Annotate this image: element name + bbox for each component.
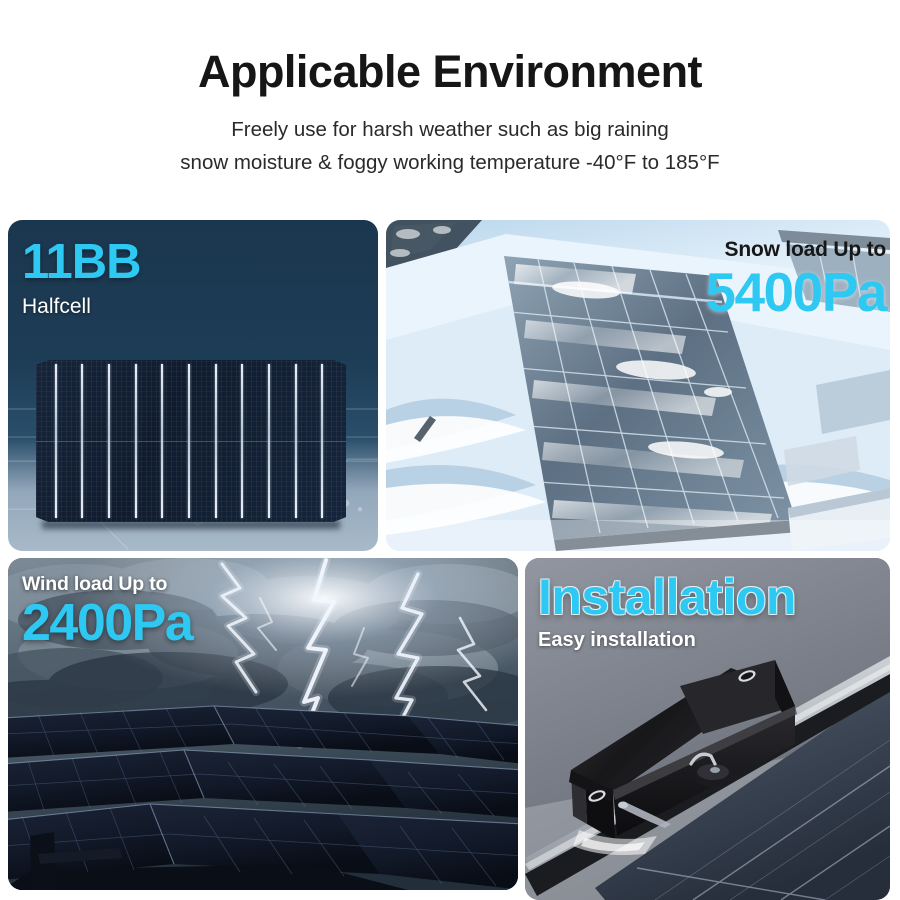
busbar <box>241 364 243 518</box>
installation-headline: Installation <box>538 572 796 622</box>
page-subtitle: Freely use for harsh weather such as big… <box>70 95 830 179</box>
busbar <box>161 364 163 518</box>
header: Applicable Environment Freely use for ha… <box>0 0 900 180</box>
subtitle-line-1: Freely use for harsh weather such as big… <box>70 113 830 146</box>
solar-cell-image <box>36 360 346 522</box>
subtitle-line-2: snow moisture & foggy working temperatur… <box>70 146 830 179</box>
busbar <box>215 364 217 518</box>
page-title: Applicable Environment <box>0 0 900 95</box>
busbar <box>81 364 83 518</box>
installation-subline: Easy installation <box>538 622 796 652</box>
busbar <box>295 364 297 518</box>
busbar <box>55 364 57 518</box>
wind-load-headline: Wind load Up to <box>22 573 192 595</box>
wind-load-value: 2400Pa <box>22 595 192 649</box>
snow-load-headline: Snow load Up to <box>705 238 886 262</box>
halfcell-text-block: 11BB Halfcell <box>22 238 141 319</box>
snow-load-text-block: Snow load Up to 5400Pa <box>705 238 886 320</box>
infographic-page: Applicable Environment Freely use for ha… <box>0 0 900 900</box>
solar-cell <box>36 360 346 522</box>
busbar <box>108 364 110 518</box>
busbar <box>268 364 270 518</box>
halfcell-headline: 11BB <box>22 238 141 287</box>
installation-text-block: Installation Easy installation <box>538 572 796 652</box>
busbar <box>188 364 190 518</box>
snow-load-value: 5400Pa <box>705 262 886 320</box>
wind-load-text-block: Wind load Up to 2400Pa <box>22 573 192 649</box>
halfcell-subline: Halfcell <box>22 287 141 319</box>
busbar <box>135 364 137 518</box>
busbar <box>321 364 323 518</box>
